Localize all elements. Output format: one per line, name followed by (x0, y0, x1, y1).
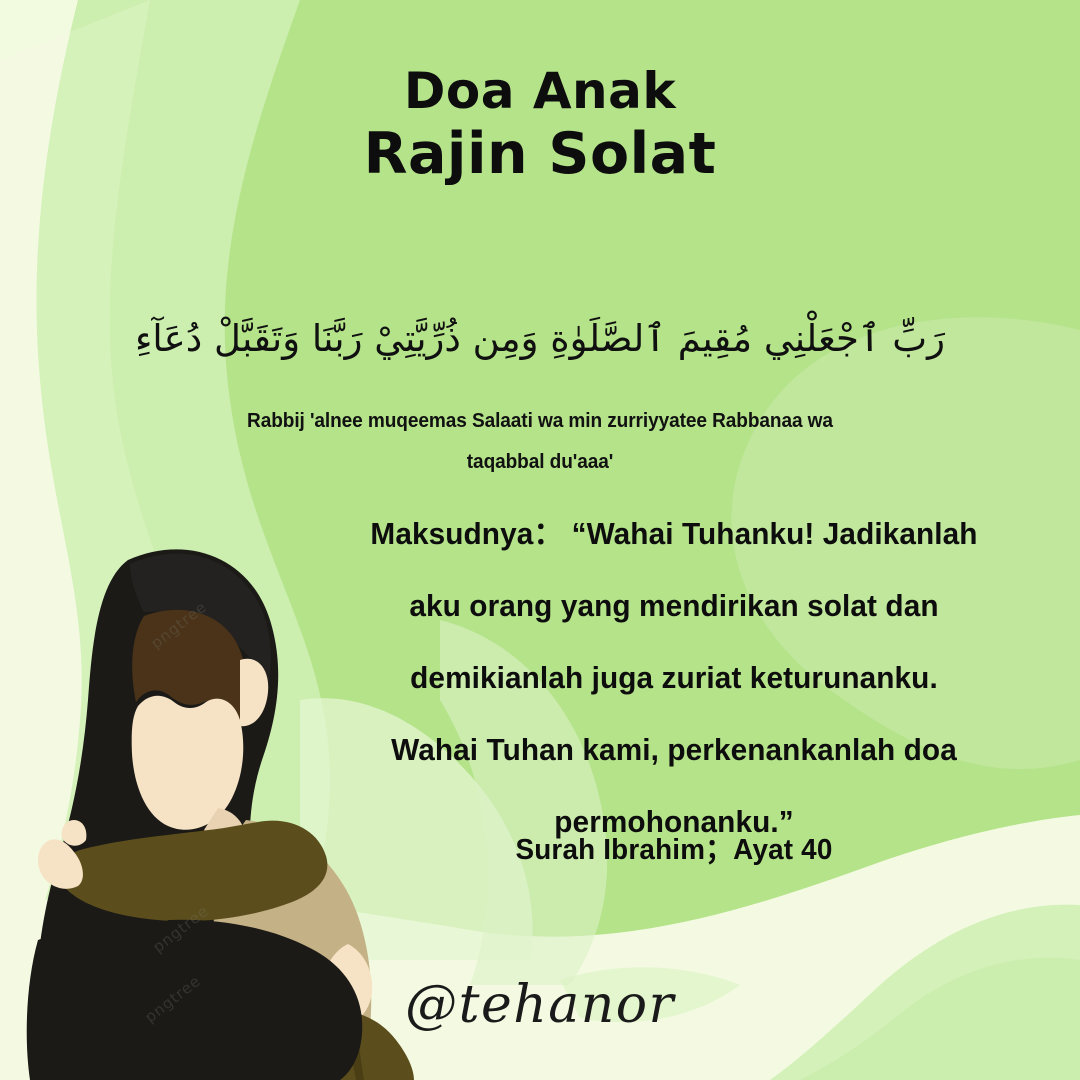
source-citation: Surah Ibrahim；Ayat 40 (332, 826, 1016, 868)
page-title: Doa Anak Rajin Solat (0, 62, 1080, 188)
arabic-verse-text: رَبِّ ٱجْعَلْنِي مُقِيمَ ٱلصَّلَوٰةِ وَم… (0, 312, 1080, 366)
title-line-1: Doa Anak (0, 62, 1080, 121)
meaning-line-2: aku orang yang mendirikan solat dan (332, 570, 1016, 642)
poster-canvas: pngtree pngtree pngtree Doa Anak Rajin S… (0, 0, 1080, 1080)
author-handle-signature: @tehanor (0, 975, 1080, 1035)
transliteration-text: Rabbij 'alnee muqeemas Salaati wa min zu… (38, 400, 1042, 482)
meaning-translation-block: Maksudnya： “Wahai Tuhanku! Jadikanlah ak… (332, 498, 1016, 858)
meaning-line-3: demikianlah juga zuriat keturunanku. (332, 642, 1016, 714)
meaning-line-1: Maksudnya： “Wahai Tuhanku! Jadikanlah (332, 498, 1016, 570)
title-line-2: Rajin Solat (0, 121, 1080, 188)
meaning-line-4: Wahai Tuhan kami, perkenankanlah doa (332, 714, 1016, 786)
